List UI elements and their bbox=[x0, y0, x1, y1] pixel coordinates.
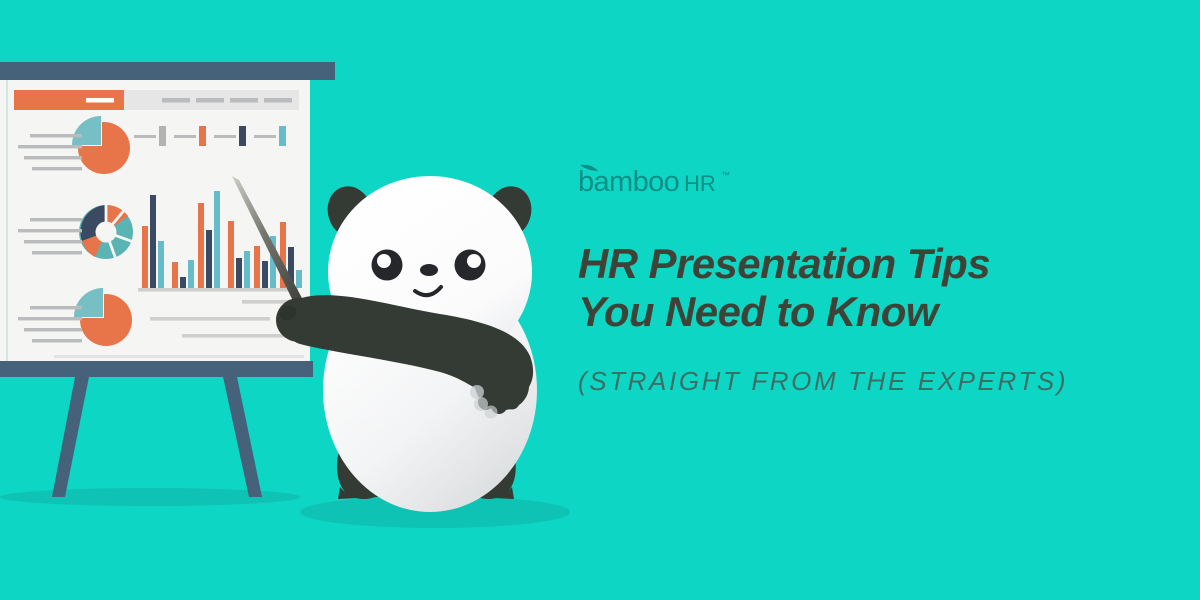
panda-left-paw bbox=[276, 298, 322, 342]
page-title: HR Presentation Tips You Need to Know bbox=[578, 240, 1098, 336]
page-subtitle: (STRAIGHT FROM THE EXPERTS) bbox=[578, 366, 1138, 397]
easel-legs bbox=[52, 372, 262, 497]
headline-line-1: HR Presentation Tips bbox=[578, 240, 990, 287]
bamboohr-logo[interactable]: bamboo HR ™ bbox=[578, 160, 768, 200]
brand-trademark-icon: ™ bbox=[721, 170, 730, 180]
poster-canvas: bamboo HR ™ HR Presentation Tips You Nee… bbox=[0, 0, 1200, 600]
panda-left-eye-highlight bbox=[377, 254, 391, 268]
panda-mascot bbox=[276, 176, 538, 512]
panda-nose bbox=[420, 264, 438, 276]
brand-name-bamboo: bamboo bbox=[578, 166, 679, 198]
headline-line-2: You Need to Know bbox=[578, 288, 1098, 336]
bamboohr-logo-svg: bamboo HR ™ bbox=[578, 160, 768, 200]
panda-right-eye-highlight bbox=[467, 254, 481, 268]
brand-name-hr: HR bbox=[684, 171, 716, 196]
slide-nav-bar bbox=[14, 90, 299, 110]
